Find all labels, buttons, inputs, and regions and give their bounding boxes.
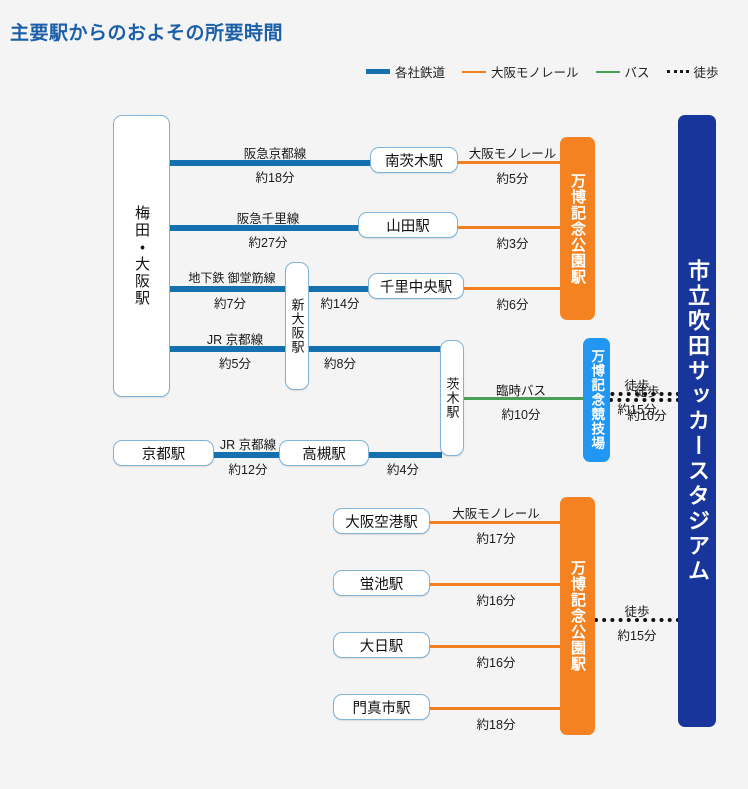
route-label-r2-line: 阪急千里線 <box>193 208 343 227</box>
station-takatsuki[interactable]: 高槻駅 <box>279 440 369 466</box>
monorail-line-hotarugaike <box>429 583 562 586</box>
station-label-yamada: 山田駅 <box>386 215 430 236</box>
route-label-r5-line: JR 京都線 <box>180 329 290 348</box>
station-kyoto[interactable]: 京都駅 <box>113 440 214 466</box>
route-label-m4-line: 大阪モノレール <box>440 503 552 522</box>
station-minami-ibaraki[interactable]: 南茨木駅 <box>370 147 458 173</box>
monorail-line-dainichi <box>429 645 562 648</box>
station-umeda-osaka[interactable]: 梅田・大阪駅 <box>113 115 170 397</box>
route-label-m1-time: 約5分 <box>460 168 565 187</box>
route-label-m1-line: 大阪モノレール <box>460 143 565 162</box>
route-label-m4-time: 約17分 <box>440 528 552 547</box>
legend: 各社鉄道 大阪モノレール バス 徒歩 <box>366 62 719 81</box>
monorail-line-icon <box>462 71 486 73</box>
route-label-m7-time: 約18分 <box>440 714 552 733</box>
station-label-umeda-osaka: 梅田・大阪駅 <box>134 205 149 307</box>
monorail-line-kadoma <box>429 707 562 710</box>
station-label-kadoma-shi: 門真市駅 <box>353 697 411 718</box>
route-label-w2-time: 約10分 <box>612 405 682 424</box>
legend-label-bus: バス <box>625 62 650 81</box>
monorail-line-senri-chuo <box>462 287 562 290</box>
legend-item-monorail: 大阪モノレール <box>462 62 579 81</box>
route-label-r4-time: 約14分 <box>309 293 371 312</box>
station-label-senri-chuo: 千里中央駅 <box>380 276 453 297</box>
route-label-m2-time: 約3分 <box>460 233 565 252</box>
station-osaka-airport[interactable]: 大阪空港駅 <box>333 508 430 534</box>
route-label-w3-time: 約15分 <box>600 625 674 644</box>
rail-line-icon <box>366 69 390 74</box>
station-label-takatsuki: 高槻駅 <box>302 443 346 464</box>
rail-line-midosuji-a <box>168 286 288 292</box>
station-hotarugaike[interactable]: 蛍池駅 <box>333 570 430 596</box>
hub-bampaku-park-top[interactable]: 万博記念公園駅 <box>560 137 595 320</box>
page-title: 主要駅からのおよその所要時間 <box>10 18 283 45</box>
legend-label-monorail: 大阪モノレール <box>491 62 579 81</box>
route-label-r1-time: 約18分 <box>200 167 350 186</box>
legend-item-walk: 徒歩 <box>667 62 719 81</box>
station-dainichi[interactable]: 大日駅 <box>333 632 430 658</box>
destination-stadium[interactable]: 市立吹田サッカースタジアム <box>678 115 716 727</box>
walk-line-icon <box>667 70 689 73</box>
destination-label: 市立吹田サッカースタジアム <box>686 259 708 584</box>
route-label-r3-time: 約7分 <box>175 293 285 312</box>
hub-label-bampaku-park-bottom: 万博記念公園駅 <box>570 560 585 672</box>
route-label-r6-time: 約8分 <box>309 353 371 372</box>
station-label-osaka-airport: 大阪空港駅 <box>345 511 418 532</box>
hub-label-bampaku-stadium: 万博記念競技場 <box>590 349 604 451</box>
route-label-m5-time: 約16分 <box>440 590 552 609</box>
legend-item-rail: 各社鉄道 <box>366 62 445 81</box>
station-label-hotarugaike: 蛍池駅 <box>360 573 404 594</box>
route-label-w3-line: 徒歩 <box>600 601 674 620</box>
route-label-b1-line: 臨時バス <box>466 380 576 399</box>
route-label-r2-time: 約27分 <box>193 232 343 251</box>
station-senri-chuo[interactable]: 千里中央駅 <box>368 273 464 299</box>
hub-bampaku-park-bottom[interactable]: 万博記念公園駅 <box>560 497 595 735</box>
legend-label-rail: 各社鉄道 <box>395 62 445 81</box>
monorail-line-yamada <box>456 226 562 229</box>
station-label-ibaraki: 茨木駅 <box>446 377 459 419</box>
station-shin-osaka[interactable]: 新大阪駅 <box>285 262 309 390</box>
route-label-r8-time: 約4分 <box>369 459 437 478</box>
station-yamada[interactable]: 山田駅 <box>358 212 458 238</box>
route-label-b1-time: 約10分 <box>466 404 576 423</box>
hub-label-bampaku-park-top: 万博記念公園駅 <box>570 173 585 285</box>
route-label-w2-line: 徒歩 <box>612 381 682 400</box>
route-label-m6-time: 約16分 <box>440 652 552 671</box>
transit-time-diagram: 主要駅からのおよその所要時間 各社鉄道 大阪モノレール バス 徒歩 <box>0 0 748 789</box>
legend-label-walk: 徒歩 <box>694 62 719 81</box>
station-label-minami-ibaraki: 南茨木駅 <box>385 150 443 171</box>
station-label-kyoto: 京都駅 <box>142 443 186 464</box>
rail-line-takatsuki-ibaraki <box>368 452 442 458</box>
route-label-m3-time: 約6分 <box>460 294 565 313</box>
station-label-shin-osaka: 新大阪駅 <box>291 298 304 354</box>
route-label-r5-time: 約5分 <box>180 353 290 372</box>
route-label-r3-line: 地下鉄 御堂筋線 <box>172 269 292 286</box>
station-kadoma-shi[interactable]: 門真市駅 <box>333 694 430 720</box>
hub-bampaku-stadium[interactable]: 万博記念競技場 <box>583 338 610 462</box>
station-ibaraki[interactable]: 茨木駅 <box>440 340 464 456</box>
rail-line-jr-kyoto-b <box>306 346 442 352</box>
station-label-dainichi: 大日駅 <box>360 635 404 656</box>
route-label-r1-line: 阪急京都線 <box>200 143 350 162</box>
rail-line-midosuji-b <box>306 286 372 292</box>
legend-item-bus: バス <box>596 62 650 81</box>
bus-line-icon <box>596 71 620 73</box>
